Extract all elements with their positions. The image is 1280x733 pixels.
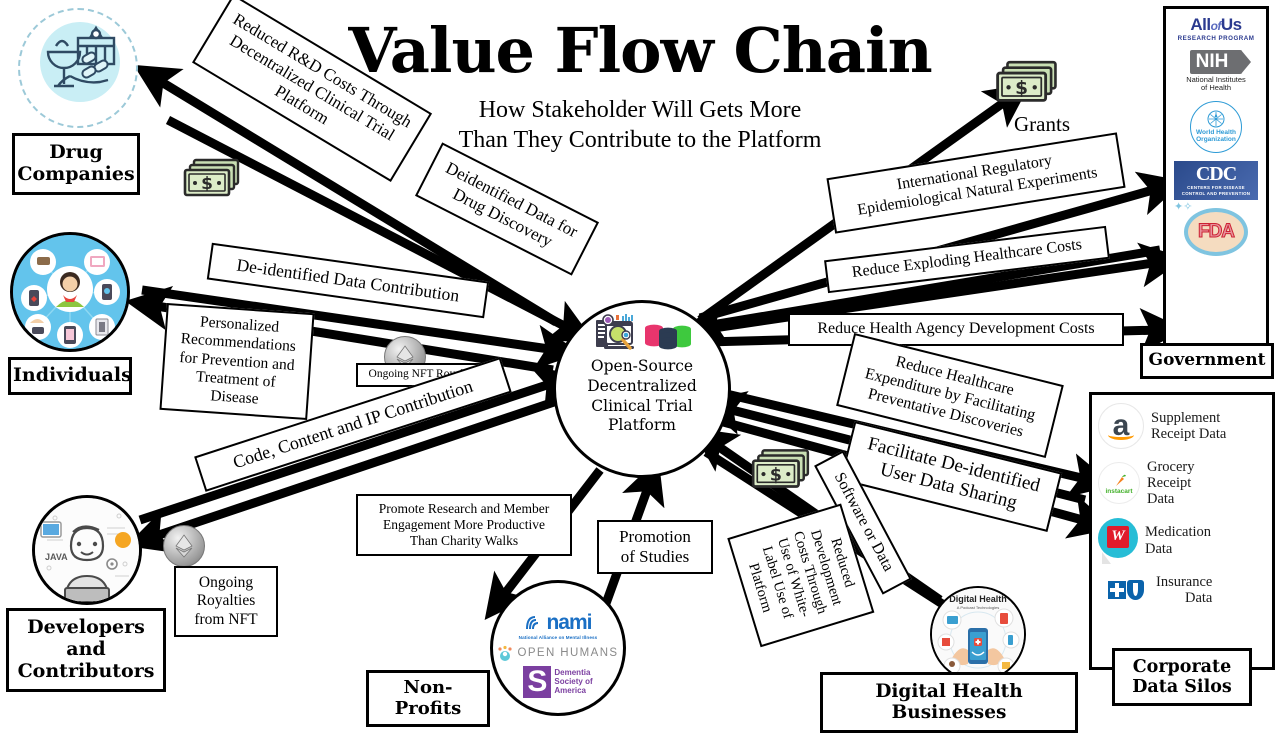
deid-contribution-line-1: De-identified Data Contribution: [216, 252, 480, 309]
nih-wordmark: NIH: [1190, 50, 1243, 74]
nih-subtitle: National Institutes of Health: [1186, 76, 1246, 93]
flow-label-reduce-agency-costs: Reduce Health Agency Development Costs: [788, 313, 1124, 346]
promote-research-line-2: Engagement More Productive: [362, 517, 566, 533]
carrot-icon: [1111, 472, 1127, 488]
silo-medication-line-2: Data: [1145, 541, 1211, 557]
cdc-logo: CDC CENTERS FOR DISEASE CONTROL AND PREV…: [1174, 161, 1259, 200]
corporate-silos-label: Corporate Data Silos: [1112, 648, 1252, 706]
svg-text:$: $: [201, 174, 213, 194]
database-stack-icon: [643, 321, 693, 355]
digital-health-label: Digital Health Businesses: [820, 672, 1078, 733]
silo-grocery-line-2: Receipt: [1147, 475, 1195, 491]
all-of-us-wordmark: AllofUs: [1190, 15, 1241, 35]
flow-label-personalized: Personalized Recommendations for Prevent…: [159, 303, 314, 420]
silo-text-supplement: Supplement Receipt Data: [1151, 410, 1226, 442]
ongoing-royalties-line-1: Ongoing: [180, 574, 272, 592]
promote-research-line-1: Promote Research and Member: [362, 501, 566, 517]
nami-subtitle: National Alliance on Mental Illness: [519, 635, 598, 640]
pharmacy-icon: [20, 10, 136, 126]
silo-grocery-line-3: Data: [1147, 491, 1195, 507]
nami-swirl-icon: [524, 614, 544, 632]
drug-companies-node[interactable]: [18, 8, 138, 128]
center-node-platform[interactable]: Open-Source Decentralized Clinical Trial…: [553, 300, 731, 478]
center-node-icons: [592, 309, 693, 355]
flow-label-deid-contribution: De-identified Data Contribution: [207, 243, 489, 318]
flow-label-reduce-exploding: Reduce Exploding Healthcare Costs: [824, 226, 1110, 293]
grants-label: Grants: [1014, 112, 1070, 137]
government-panel[interactable]: AllofUs RESEARCH PROGRAM NIH National In…: [1163, 6, 1269, 346]
reduce-agency-line-1: Reduce Health Agency Development Costs: [796, 320, 1116, 339]
nih-sub-line-2: of Health: [1186, 84, 1246, 92]
center-label-line-1: Open-Source: [587, 357, 697, 377]
open-humans-wordmark: OPEN HUMANS: [517, 647, 618, 659]
corporate-silos-label-line-2: Data Silos: [1117, 677, 1247, 697]
developers-label-line-1: Developers: [11, 617, 161, 639]
svg-text:A Podcast Technologies: A Podcast Technologies: [957, 605, 999, 610]
drug-companies-label-line-1: Drug: [17, 142, 135, 164]
digital-health-node[interactable]: Digital Health A Podcast Technologies: [930, 586, 1026, 682]
center-node-label: Open-Source Decentralized Clinical Trial…: [587, 357, 697, 436]
nami-logo: nami National Alliance on Mental Illness: [519, 611, 598, 640]
open-humans-icon: [497, 645, 513, 661]
cdc-sub-line-2: CONTROL AND PREVENTION: [1182, 191, 1251, 197]
individuals-label: Individuals: [8, 357, 132, 395]
nami-wordmark: nami: [546, 611, 591, 635]
dementia-society-text: Dementia Society of America: [554, 668, 592, 696]
connected-people-devices-icon: [13, 235, 127, 349]
silo-medication-line-1: Medication: [1145, 524, 1211, 540]
non-profits-node[interactable]: nami National Alliance on Mental Illness…: [490, 580, 626, 716]
instacart-logo: instacart: [1098, 462, 1140, 504]
who-line-2: Organization: [1196, 137, 1236, 144]
flow-label-ongoing-royalties-nft: Ongoing Royalties from NFT: [174, 566, 278, 637]
individuals-node[interactable]: [10, 232, 130, 352]
fda-logo: ✦✧ FDA: [1184, 208, 1248, 256]
ethereum-glyph-2: [173, 533, 195, 559]
center-label-line-4: Platform: [587, 416, 697, 436]
instacart-wordmark: instacart: [1105, 488, 1132, 495]
developers-label-line-3: Contributors: [11, 661, 161, 683]
ethereum-coin-icon-developers: [163, 525, 205, 567]
subtitle-line-1: How Stakeholder Will Gets More: [0, 95, 1280, 125]
silo-row-supplement: a Supplement Receipt Data: [1098, 403, 1266, 449]
silo-text-medication: Medication Data: [1145, 524, 1211, 556]
cdc-sub-line-1: CENTERS FOR DISEASE: [1187, 185, 1245, 191]
all-of-us-logo: AllofUs RESEARCH PROGRAM: [1178, 15, 1255, 42]
open-humans-logo: OPEN HUMANS: [497, 645, 618, 661]
money-icon-grants: $: [992, 60, 1054, 104]
flow-label-promote-research: Promote Research and Member Engagement M…: [356, 494, 572, 556]
drug-companies-label-line-2: Companies: [17, 164, 135, 186]
silo-text-grocery: Grocery Receipt Data: [1147, 459, 1195, 508]
silo-supplement-line-1: Supplement: [1151, 410, 1226, 426]
svg-text:Digital Health: Digital Health: [949, 594, 1007, 604]
who-logo: World Health Organization: [1190, 101, 1242, 153]
dsa-line-2: Society of: [554, 677, 592, 686]
promote-research-line-3: Than Charity Walks: [362, 533, 566, 549]
developer-avatar-icon: JAVA: [35, 498, 139, 602]
non-profits-label: Non-Profits: [366, 670, 490, 727]
corporate-silos-label-line-1: Corporate: [1117, 657, 1247, 677]
center-label-line-3: Clinical Trial: [587, 397, 697, 417]
government-label: Government: [1140, 343, 1274, 379]
fda-badge: FDA: [1184, 208, 1248, 256]
center-label-line-2: Decentralized: [587, 377, 697, 397]
walgreens-logo: W: [1098, 518, 1138, 564]
dsa-line-1: Dementia: [554, 668, 592, 677]
bluecross-blueshield-logo: [1108, 580, 1144, 600]
flow-label-promotion-of-studies: Promotion of Studies: [597, 520, 713, 574]
silo-insurance-line-1: Insurance: [1156, 574, 1212, 590]
who-emblem-icon: [1205, 110, 1227, 130]
data-analysis-icon: [592, 313, 638, 355]
developers-label-line-2: and: [11, 639, 161, 661]
fda-wordmark: FDA: [1198, 221, 1234, 243]
value-flow-chain-diagram: Value Flow Chain How Stakeholder Will Ge…: [0, 0, 1280, 720]
silo-grocery-line-1: Grocery: [1147, 459, 1195, 475]
silo-row-grocery: instacart Grocery Receipt Data: [1098, 459, 1266, 508]
money-icon-drug-companies: $: [180, 158, 242, 202]
silo-insurance-line-2: Data: [1156, 590, 1212, 606]
cdc-wordmark: CDC: [1196, 164, 1236, 184]
silo-row-insurance: Insurance Data: [1098, 574, 1266, 606]
promotion-studies-line-1: Promotion: [603, 527, 707, 547]
svg-text:$: $: [1015, 78, 1028, 99]
svg-text:$: $: [770, 465, 782, 485]
flow-label-deidentified-drug: Deidentified Data for Drug Discovery: [415, 142, 599, 275]
drug-companies-label: Drug Companies: [12, 133, 140, 195]
ongoing-royalties-line-2: Royalties: [180, 592, 272, 610]
developers-node[interactable]: JAVA: [32, 495, 142, 605]
digital-health-icon: Digital Health A Podcast Technologies: [932, 588, 1024, 680]
silo-supplement-line-2: Receipt Data: [1151, 426, 1226, 442]
silo-row-medication: W Medication Data: [1098, 518, 1266, 564]
silo-text-insurance: Insurance Data: [1156, 574, 1212, 606]
walgreens-w: W: [1111, 528, 1124, 545]
corporate-silos-panel[interactable]: a Supplement Receipt Data instacart Groc…: [1089, 392, 1275, 670]
developers-label: Developers and Contributors: [6, 608, 166, 692]
all-of-us-subtitle: RESEARCH PROGRAM: [1178, 35, 1255, 42]
money-icon-digital-health: $: [748, 448, 810, 492]
page-title: Value Flow Chain: [0, 14, 1280, 87]
amazon-logo: a: [1098, 403, 1144, 449]
blue-shield-icon: [1127, 580, 1144, 600]
blue-cross-icon: [1108, 581, 1126, 599]
sparkle-icon: ✦✧: [1174, 200, 1192, 213]
svg-text:JAVA: JAVA: [45, 552, 68, 562]
reduce-exploding-line-1: Reduce Exploding Healthcare Costs: [833, 234, 1101, 285]
promotion-studies-line-2: of Studies: [603, 547, 707, 567]
ongoing-royalties-line-3: from NFT: [180, 611, 272, 629]
nih-logo: NIH National Institutes of Health: [1186, 50, 1246, 93]
dementia-society-logo: S Dementia Society of America: [523, 666, 592, 698]
dsa-line-3: America: [554, 686, 592, 695]
dementia-society-letter: S: [523, 666, 551, 698]
